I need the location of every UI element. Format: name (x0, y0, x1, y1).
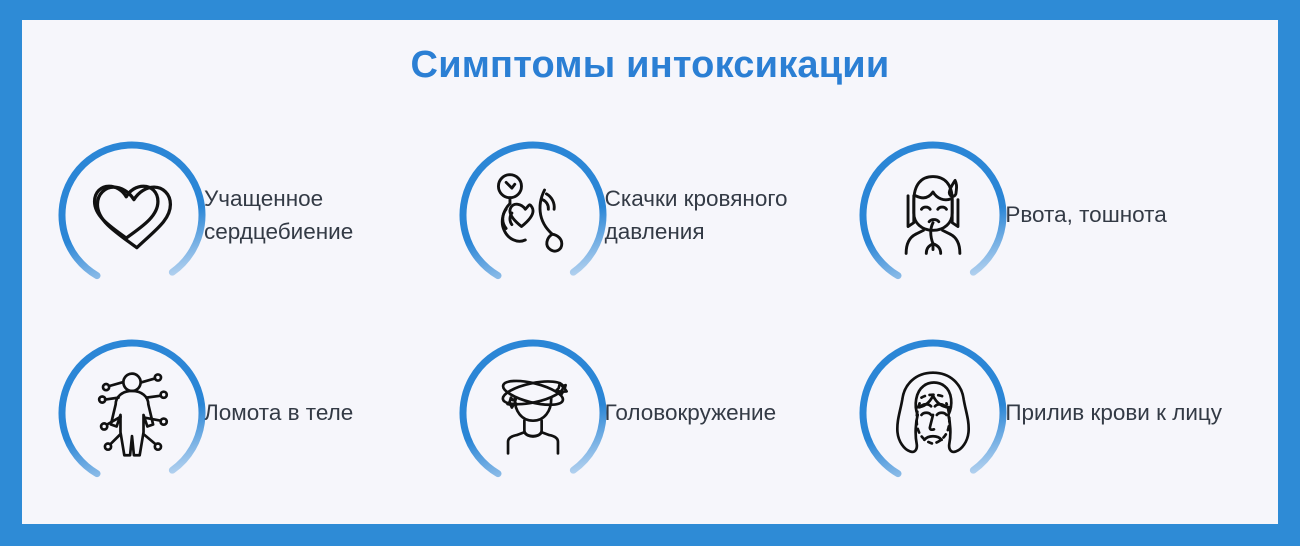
symptom-label: Прилив крови к лицу (1005, 396, 1222, 429)
body-ache-figure-icon (84, 365, 180, 461)
symptom-label: Учащенное сердцебиение (204, 182, 353, 249)
symptom-item-nausea[interactable]: Рвота, тошнота (857, 124, 1258, 306)
content-card: Симптомы интоксикации (22, 20, 1278, 524)
symptom-grid: Учащенное сердцебиение (56, 124, 1258, 504)
flushed-face-icon (885, 365, 981, 461)
symptom-item-dizziness[interactable]: Головокружение (457, 322, 858, 504)
label-line: Учащенное (204, 182, 353, 215)
label-line: Головокружение (605, 396, 777, 429)
symptom-item-heartbeat[interactable]: Учащенное сердцебиение (56, 124, 457, 306)
icon-badge (56, 337, 208, 489)
icon-badge (56, 139, 208, 291)
label-line: Скачки кровяного (605, 182, 788, 215)
symptom-item-facial-flush[interactable]: Прилив крови к лицу (857, 322, 1258, 504)
icon-badge (457, 337, 609, 489)
icon-badge (457, 139, 609, 291)
symptom-label: Скачки кровяного давления (605, 182, 788, 249)
symptom-label: Головокружение (605, 396, 777, 429)
label-line: Ломота в теле (204, 396, 353, 429)
blood-pressure-monitor-icon (485, 167, 581, 263)
label-line: сердцебиение (204, 215, 353, 248)
double-heart-icon (84, 167, 180, 263)
label-line: Рвота, тошнота (1005, 198, 1166, 231)
symptom-item-body-ache[interactable]: Ломота в теле (56, 322, 457, 504)
symptom-label: Рвота, тошнота (1005, 198, 1166, 231)
infographic-root: Симптомы интоксикации (0, 0, 1300, 546)
icon-badge (857, 139, 1009, 291)
icon-badge (857, 337, 1009, 489)
label-line: давления (605, 215, 788, 248)
page-title: Симптомы интоксикации (22, 44, 1278, 87)
nausea-person-icon (885, 167, 981, 263)
symptom-item-blood-pressure[interactable]: Скачки кровяного давления (457, 124, 858, 306)
symptom-label: Ломота в теле (204, 396, 353, 429)
label-line: Прилив крови к лицу (1005, 396, 1222, 429)
dizziness-head-icon (485, 365, 581, 461)
